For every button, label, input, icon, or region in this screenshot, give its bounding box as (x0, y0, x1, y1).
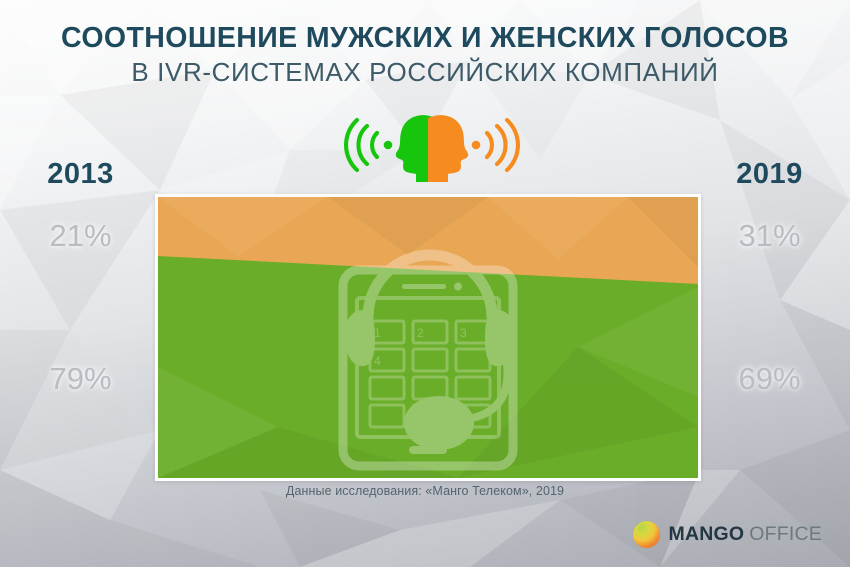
page-title: СООТНОШЕНИЕ МУЖСКИХ И ЖЕНСКИХ ГОЛОСОВ В … (0, 22, 850, 88)
mango-office-logo[interactable]: MANGOOFFICE (633, 521, 822, 548)
keypad-digit-1: 1 (374, 326, 381, 340)
headline-line-2: В IVR-СИСТЕМАХ РОССИЙСКИХ КОМПАНИЙ (0, 57, 850, 88)
brand-wordmark: MANGOOFFICE (669, 523, 822, 546)
year-label-left: 2013 (8, 160, 153, 189)
keypad-digit-2: 2 (417, 326, 424, 340)
right-column-2019: 2019 31% (697, 160, 842, 251)
percent-female-right: 31% (697, 220, 842, 251)
mango-gradient-circle-icon (633, 521, 660, 548)
percent-male-left: 79% (8, 363, 153, 394)
female-head-speaking-icon (346, 115, 436, 182)
left-column-2013: 2013 21% (8, 160, 153, 251)
source-note: Данные исследования: «Манго Телеком», 20… (0, 484, 850, 498)
chart-surface: 1 2 3 4 (158, 197, 698, 478)
chart-panel: 1 2 3 4 (155, 194, 701, 481)
percent-female-left: 21% (8, 220, 153, 251)
keypad-digit-3: 3 (460, 326, 467, 340)
infographic-canvas: СООТНОШЕНИЕ МУЖСКИХ И ЖЕНСКИХ ГОЛОСОВ В … (0, 0, 850, 567)
brand-name-mango: MANGO (669, 523, 745, 545)
headline-line-1: СООТНОШЕНИЕ МУЖСКИХ И ЖЕНСКИХ ГОЛОСОВ (0, 22, 850, 55)
keypad-digit-4: 4 (374, 354, 381, 368)
year-label-right: 2019 (697, 160, 842, 189)
speaker-icons-group (344, 108, 520, 182)
percent-male-right: 69% (697, 363, 842, 394)
male-head-speaking-icon (428, 115, 518, 182)
brand-name-office: OFFICE (749, 523, 822, 545)
area-chart: 1 2 3 4 (158, 197, 698, 478)
